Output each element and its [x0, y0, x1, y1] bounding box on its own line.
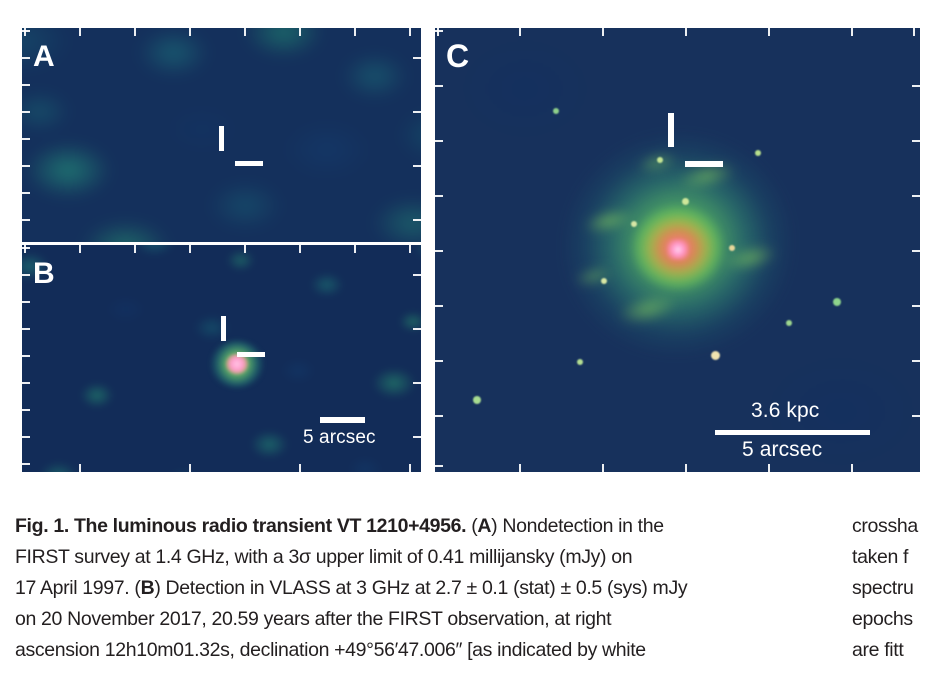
axis-tick-right: [413, 382, 421, 384]
axis-tick-left: [435, 250, 443, 252]
axis-tick-left: [22, 436, 30, 438]
caption-line: are fitt: [852, 635, 932, 666]
axis-tick-bottom: [602, 464, 604, 472]
axis-tick-bottom: [768, 464, 770, 472]
panel-c-letter: C: [446, 40, 469, 72]
axis-tick-bottom: [519, 464, 521, 472]
axis-tick-right: [413, 436, 421, 438]
caption-left-column: Fig. 1. The luminous radio transient VT …: [15, 511, 837, 666]
axis-tick-left: [22, 165, 30, 167]
caption-line: FIRST survey at 1.4 GHz, with a 3σ upper…: [15, 542, 837, 573]
radio-source-core: [226, 354, 248, 374]
axis-tick-top: [134, 245, 136, 253]
crosshair-vertical-tick: [668, 113, 674, 147]
axis-tick-left: [22, 192, 30, 194]
scalebar-line: [320, 417, 365, 423]
axis-tick-right: [912, 250, 920, 252]
crosshair-horizontal-tick: [237, 352, 265, 357]
axis-tick-left: [22, 57, 30, 59]
axis-tick-left: [22, 274, 30, 276]
caption-text-run: 17 April 1997. (: [15, 577, 141, 599]
axis-tick-left: [435, 85, 443, 87]
panel-b-radio-map: B 5 arcsec: [22, 245, 421, 472]
axis-tick-top: [79, 28, 81, 36]
axis-tick-right: [413, 165, 421, 167]
axis-tick-left: [435, 140, 443, 142]
caption-text-run: ) Nondetection in the: [491, 515, 664, 537]
axis-tick-left: [22, 138, 30, 140]
star-knot: [711, 351, 720, 360]
axis-tick-top: [134, 28, 136, 36]
caption-line: Fig. 1. The luminous radio transient VT …: [15, 511, 837, 542]
star-knot: [553, 108, 559, 114]
axis-tick-top: [913, 28, 915, 36]
star-knot: [577, 359, 583, 365]
axis-tick-top: [768, 28, 770, 36]
crosshair-horizontal-tick: [685, 161, 723, 167]
star-knot: [833, 298, 841, 306]
axis-tick-top: [244, 245, 246, 253]
axis-tick-left: [22, 382, 30, 384]
axis-tick-top: [519, 28, 521, 36]
panel-a-letter: A: [33, 42, 55, 72]
axis-tick-top: [189, 28, 191, 36]
axis-tick-top: [685, 28, 687, 36]
star-knot: [682, 198, 689, 205]
axis-tick-right: [413, 219, 421, 221]
caption-line: ascension 12h10m01.32s, declination +49°…: [15, 635, 837, 666]
panel-b-letter: B: [33, 259, 55, 289]
star-knot: [601, 278, 607, 284]
axis-tick-left: [435, 465, 443, 467]
panel-a-radio-map: A: [22, 28, 421, 242]
axis-tick-right: [912, 360, 920, 362]
axis-tick-left: [22, 111, 30, 113]
caption-right-column: crosshataken fspectruepochsare fitt: [852, 511, 932, 666]
caption-text-run: on 20 November 2017, 20.59 years after t…: [15, 608, 611, 630]
axis-tick-top: [189, 245, 191, 253]
axis-tick-left: [22, 463, 30, 465]
axis-tick-right: [912, 140, 920, 142]
caption-text-run: (: [466, 515, 477, 537]
axis-tick-left: [22, 355, 30, 357]
caption-text-run: ) Detection in VLASS at 3 GHz at 2.7 ± 0…: [154, 577, 687, 599]
axis-tick-bottom: [189, 464, 191, 472]
star-knot: [755, 150, 761, 156]
scalebar-line: [715, 430, 870, 435]
caption-text-run: FIRST survey at 1.4 GHz, with a 3σ upper…: [15, 546, 632, 568]
caption-text-run: ascension 12h10m01.32s, declination +49°…: [15, 639, 646, 661]
axis-tick-bottom: [685, 464, 687, 472]
caption-line: crossha: [852, 511, 932, 542]
caption-bold-run: A: [477, 515, 491, 537]
axis-tick-left: [22, 30, 30, 32]
caption-line: 17 April 1997. (B) Detection in VLASS at…: [15, 573, 837, 604]
axis-tick-right: [413, 111, 421, 113]
axis-tick-left: [22, 219, 30, 221]
axis-tick-left: [435, 30, 443, 32]
crosshair-vertical-tick: [219, 126, 224, 151]
axis-tick-left: [22, 409, 30, 411]
axis-tick-top: [409, 245, 411, 253]
crosshair-horizontal-tick: [235, 161, 263, 166]
galaxy-nucleus: [667, 240, 689, 260]
axis-tick-right: [912, 415, 920, 417]
axis-tick-left: [435, 195, 443, 197]
axis-tick-bottom: [851, 464, 853, 472]
axis-tick-right: [413, 274, 421, 276]
star-knot: [657, 157, 663, 163]
scalebar-label-kpc: 3.6 kpc: [751, 399, 819, 423]
caption-bold-run: B: [141, 577, 155, 599]
panel-c-optical-image: C 3.6 kpc 5 arcsec: [435, 28, 920, 472]
axis-tick-left: [435, 415, 443, 417]
caption-line: spectru: [852, 573, 932, 604]
caption-bold-run: Fig. 1. The luminous radio transient VT …: [15, 515, 466, 537]
star-knot: [729, 245, 735, 251]
axis-tick-bottom: [299, 464, 301, 472]
axis-tick-right: [912, 305, 920, 307]
axis-tick-left: [435, 360, 443, 362]
axis-tick-left: [22, 247, 30, 249]
axis-tick-right: [912, 85, 920, 87]
scalebar-label: 5 arcsec: [303, 427, 376, 449]
axis-tick-top: [299, 28, 301, 36]
axis-tick-top: [354, 245, 356, 253]
axis-tick-bottom: [409, 464, 411, 472]
scalebar-label-arcsec: 5 arcsec: [742, 438, 822, 462]
caption-line: on 20 November 2017, 20.59 years after t…: [15, 604, 837, 635]
crosshair-vertical-tick: [221, 316, 226, 341]
axis-tick-left: [22, 84, 30, 86]
axis-tick-right: [912, 195, 920, 197]
caption-line: epochs: [852, 604, 932, 635]
axis-tick-top: [602, 28, 604, 36]
axis-tick-left: [435, 305, 443, 307]
axis-tick-top: [79, 245, 81, 253]
axis-tick-left: [22, 328, 30, 330]
figure-caption: Fig. 1. The luminous radio transient VT …: [0, 503, 932, 677]
axis-tick-left: [22, 301, 30, 303]
axis-tick-top: [354, 28, 356, 36]
axis-tick-bottom: [79, 464, 81, 472]
star-knot: [631, 221, 637, 227]
star-knot: [786, 320, 792, 326]
axis-tick-top: [299, 245, 301, 253]
axis-tick-right: [413, 57, 421, 59]
star-knot: [473, 396, 481, 404]
axis-tick-top: [244, 28, 246, 36]
axis-tick-top: [851, 28, 853, 36]
figure-image: A B: [0, 0, 932, 500]
axis-tick-top: [409, 28, 411, 36]
caption-line: taken f: [852, 542, 932, 573]
axis-tick-right: [413, 328, 421, 330]
